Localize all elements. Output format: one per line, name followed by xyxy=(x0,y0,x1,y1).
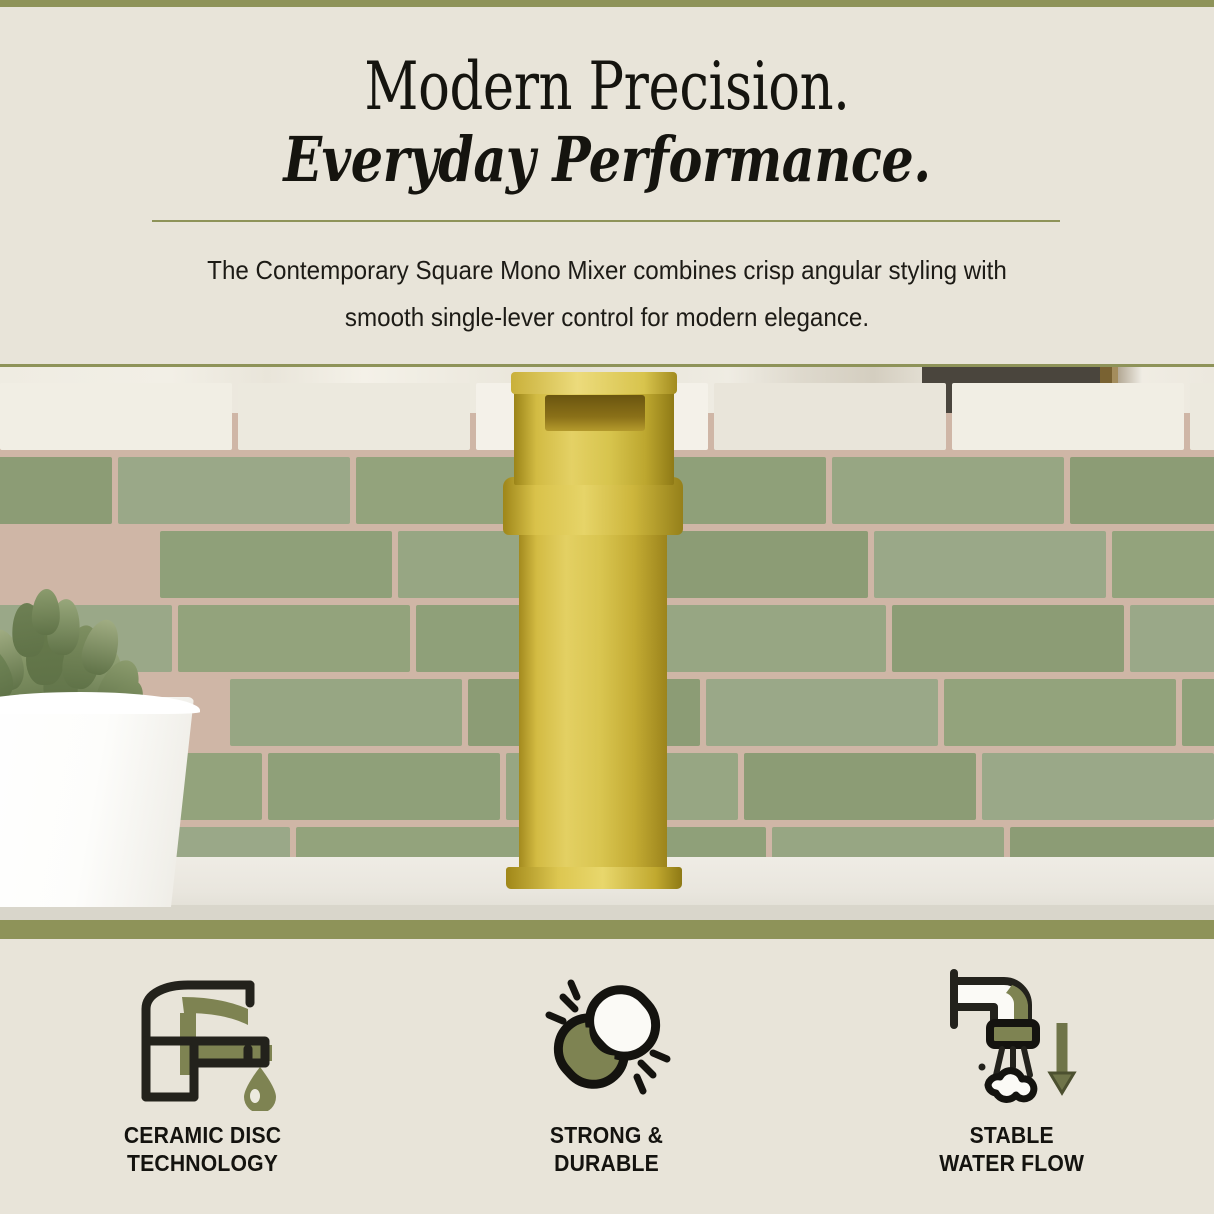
wall-tile xyxy=(636,531,868,598)
wall-tile xyxy=(832,457,1064,524)
wall-tile xyxy=(944,679,1176,746)
faucet-top-cap xyxy=(511,372,677,394)
headline-block: Modern Precision. Everyday Performance. xyxy=(0,53,1214,199)
faucet-spout-opening xyxy=(545,395,645,431)
headline-line-2: Everyday Performance. xyxy=(109,121,1104,199)
features-top-accent-band xyxy=(0,920,1214,939)
feature-label-line-1: STRONG & xyxy=(550,1122,663,1148)
wall-tile xyxy=(654,605,886,672)
faucet-base xyxy=(506,867,682,889)
wall-tile xyxy=(230,679,462,746)
wall-tile xyxy=(238,383,470,450)
wall-tile xyxy=(1130,605,1214,672)
wall-tile xyxy=(1190,383,1214,450)
headline-divider-rule xyxy=(152,220,1060,222)
feature-label-line-2: TECHNOLOGY xyxy=(127,1150,278,1176)
feature-label-stable-water-flow: STABLE WATER FLOW xyxy=(939,1121,1084,1177)
plant-pot xyxy=(0,697,194,907)
feature-label-ceramic-disc: CERAMIC DISC TECHNOLOGY xyxy=(124,1121,281,1177)
feature-ceramic-disc: CERAMIC DISC TECHNOLOGY xyxy=(37,963,367,1177)
water-flow-arrow-icon xyxy=(932,963,1092,1111)
faucet-drop-icon xyxy=(122,963,282,1111)
top-accent-band xyxy=(0,0,1214,7)
promo-page: Modern Precision. Everyday Performance. … xyxy=(0,0,1214,1214)
wall-tile xyxy=(952,383,1184,450)
wall-tile xyxy=(268,753,500,820)
countertop-edge xyxy=(0,905,1214,920)
faucet-body xyxy=(519,527,667,877)
wall-tile xyxy=(714,383,946,450)
wall-tile xyxy=(0,383,232,450)
feature-label-line-2: WATER FLOW xyxy=(939,1150,1084,1176)
feature-label-line-1: CERAMIC DISC xyxy=(124,1122,281,1148)
feature-strong-durable: STRONG & DURABLE xyxy=(442,963,772,1177)
wall-tile xyxy=(1070,457,1214,524)
faucet-spout-collar xyxy=(503,477,683,535)
product-photo xyxy=(0,367,1214,920)
features-section: CERAMIC DISC TECHNOLOGY xyxy=(0,939,1214,1214)
wall-tile xyxy=(0,457,112,524)
wall-tile xyxy=(706,679,938,746)
wall-tile xyxy=(178,605,410,672)
subtitle-text: The Contemporary Square Mono Mixer combi… xyxy=(173,247,1042,341)
wall-tile xyxy=(874,531,1106,598)
wall-tile xyxy=(1182,679,1214,746)
feature-stable-water-flow: STABLE WATER FLOW xyxy=(847,963,1177,1177)
wall-tile xyxy=(118,457,350,524)
wall-tile xyxy=(982,753,1214,820)
wall-tile xyxy=(892,605,1124,672)
feature-label-line-2: DURABLE xyxy=(555,1150,660,1176)
header-section: Modern Precision. Everyday Performance. … xyxy=(0,7,1214,366)
headline-line-1: Modern Precision. xyxy=(121,53,1092,121)
feature-label-strong-durable: STRONG & DURABLE xyxy=(550,1121,663,1177)
wall-tile xyxy=(160,531,392,598)
wall-tile xyxy=(1112,531,1214,598)
wall-tile xyxy=(744,753,976,820)
feature-label-line-1: STABLE xyxy=(970,1122,1054,1148)
chain-link-icon xyxy=(527,963,687,1111)
